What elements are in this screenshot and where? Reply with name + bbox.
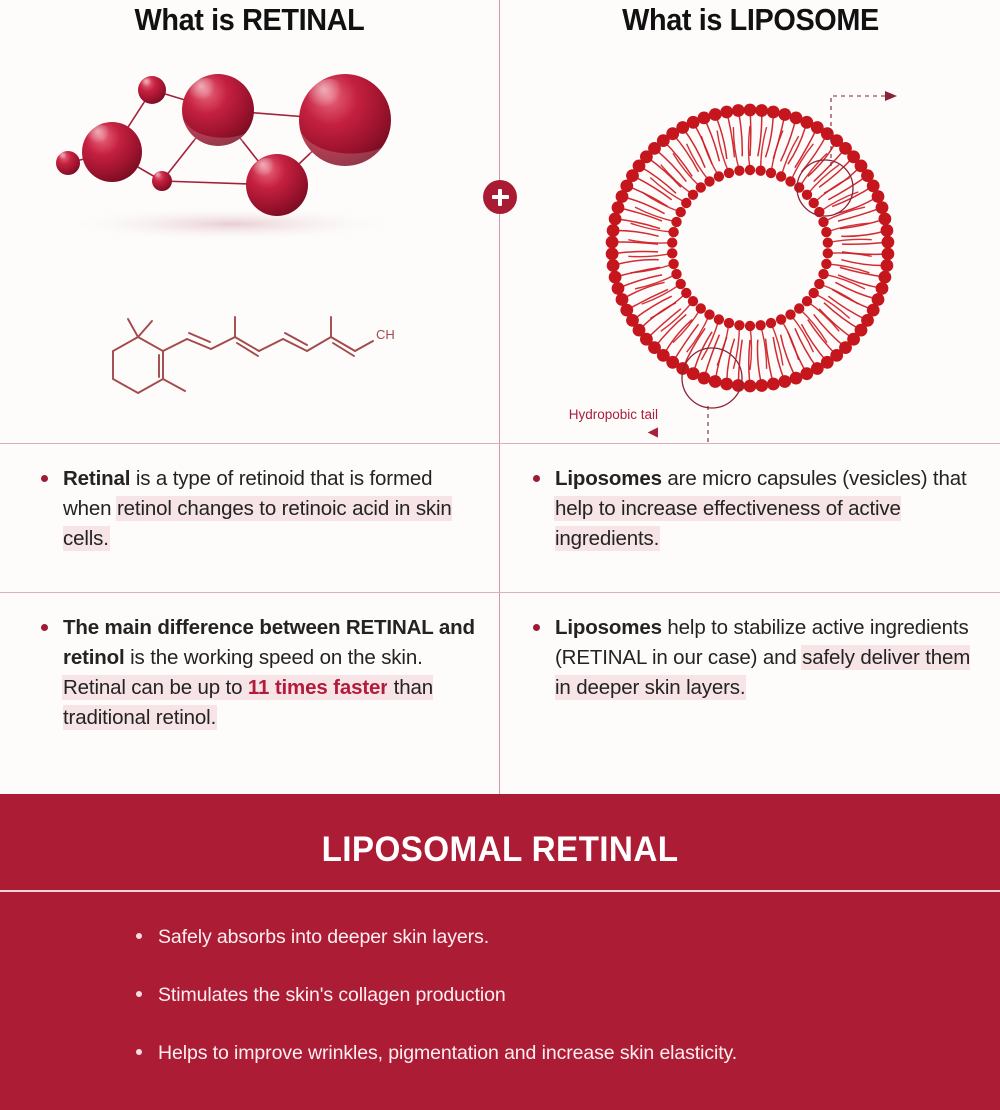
liposomal-retinal-banner: LIPOSOMAL RETINAL Safely absorbs into de… (0, 794, 1000, 1110)
bullet-icon (41, 475, 48, 482)
banner-divider (0, 890, 1000, 892)
cell-liposome-definition: Liposomes are micro capsules (vesicles) … (500, 444, 1000, 592)
body-text: are micro capsules (vesicles) that (662, 467, 967, 490)
retinal-chemical-structure: CHO (95, 303, 395, 403)
list-item-label: Safely absorbs into deeper skin layers. (158, 926, 489, 948)
liposome-illustration: Hydrophilic head (500, 48, 1000, 443)
cell-retinal-difference: The main difference between RETINAL and … (0, 593, 499, 794)
bullet-icon (136, 933, 142, 939)
list-item: Stimulates the skin's collagen productio… (130, 980, 930, 1010)
retinal-definition-text: Retinal is a type of retinoid that is fo… (63, 464, 477, 554)
bullet-icon (533, 475, 540, 482)
banner-title: LIPOSOMAL RETINAL (25, 830, 975, 870)
plus-icon (483, 180, 517, 214)
comparison-row-1: Retinal is a type of retinoid that is fo… (0, 444, 1000, 592)
bullet-icon (41, 624, 48, 631)
list-item-label: Helps to improve wrinkles, pigmentation … (158, 1042, 737, 1064)
body-text: retinol changes to retinoic acid in skin… (63, 497, 452, 550)
liposome-stabilize-text: Liposomes help to stabilize active ingre… (555, 613, 978, 703)
bold-text: Liposomes (555, 467, 662, 490)
liposome-definition-text: Liposomes are micro capsules (vesicles) … (555, 464, 978, 554)
body-text: is the working speed on the skin. (125, 646, 423, 669)
retinal-difference-text: The main difference between RETINAL and … (63, 613, 477, 733)
heading-retinal: What is RETINAL (17, 2, 481, 38)
bullet-icon (533, 624, 540, 631)
accent-text: 11 times faster (248, 676, 388, 699)
retinal-illustration: CHO (0, 48, 499, 443)
liposome-bilayer-vesicle (500, 48, 1000, 443)
body-text: Retinal can be up to (63, 676, 248, 699)
cell-retinal-definition: Retinal is a type of retinoid that is fo… (0, 444, 499, 592)
bold-text: Liposomes (555, 616, 662, 639)
headings-row: What is RETINAL What is LIPOSOME (0, 0, 1000, 48)
label-hydrophobic-tail: Hydropobic tail ◀ (538, 390, 658, 441)
list-item-label: Stimulates the skin's collagen productio… (158, 984, 506, 1006)
bold-text: Retinal (63, 467, 130, 490)
bullet-icon (136, 1049, 142, 1055)
label-hydrophobic-text: Hydropobic tail (569, 407, 658, 422)
infographic-page: What is RETINAL What is LIPOSOME (0, 0, 1000, 1110)
list-item: Helps to improve wrinkles, pigmentation … (130, 1038, 930, 1068)
body-text: help to increase effectiveness of active… (555, 497, 901, 550)
structure-end-label: CHO (376, 327, 395, 342)
banner-benefits-list: Safely absorbs into deeper skin layers. … (130, 922, 930, 1068)
heading-liposome: What is LIPOSOME (518, 2, 982, 38)
bullet-icon (136, 991, 142, 997)
arrow-left-icon: ◀ (644, 424, 658, 439)
list-item: Safely absorbs into deeper skin layers. (130, 922, 930, 952)
cell-liposome-stabilize: Liposomes help to stabilize active ingre… (500, 593, 1000, 794)
comparison-row-2: The main difference between RETINAL and … (0, 593, 1000, 794)
